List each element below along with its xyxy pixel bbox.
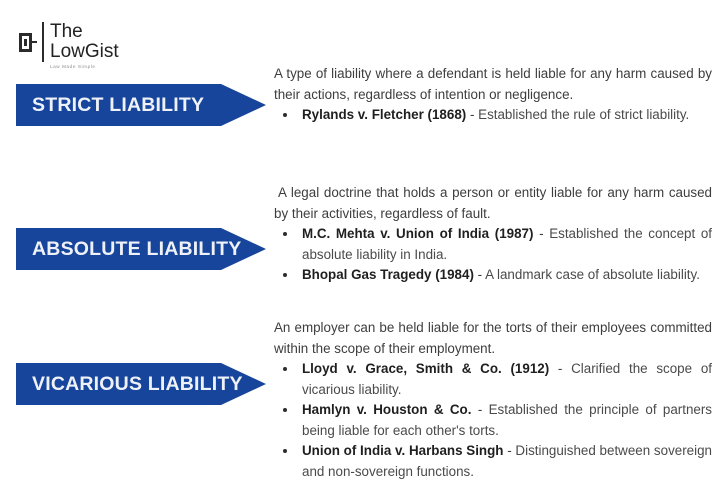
list-item: Hamlyn v. Houston & Co. - Established th…: [274, 400, 712, 441]
list-item: Lloyd v. Grace, Smith & Co. (1912) - Cla…: [274, 359, 712, 400]
banner-strict-liability: STRICT LIABILITY: [16, 84, 266, 126]
case-name: M.C. Mehta v. Union of India (1987): [302, 226, 533, 241]
banner-vicarious-liability: VICARIOUS LIABILITY: [16, 363, 266, 405]
case-name: Lloyd v. Grace, Smith & Co. (1912): [302, 361, 549, 376]
case-description: A landmark case of absolute liability.: [485, 267, 700, 282]
case-list: Rylands v. Fletcher (1868) - Established…: [274, 105, 712, 126]
list-item: M.C. Mehta v. Union of India (1987) - Es…: [274, 224, 712, 265]
case-description: Established the rule of strict liability…: [478, 107, 689, 122]
case-list: Lloyd v. Grace, Smith & Co. (1912) - Cla…: [274, 359, 712, 482]
section-vicarious-liability: An employer can be held liable for the t…: [274, 318, 712, 482]
bullet-icon: [283, 113, 287, 117]
book-gavel-icon: [18, 30, 38, 56]
bullet-icon: [283, 232, 287, 236]
logo-line-the: The: [50, 22, 119, 41]
logo-divider: [42, 22, 44, 62]
banner-absolute-liability: ABSOLUTE LIABILITY: [16, 228, 266, 270]
case-separator: -: [533, 226, 549, 241]
case-separator: -: [474, 267, 485, 282]
banner-label: VICARIOUS LIABILITY: [16, 373, 243, 396]
case-separator: -: [466, 107, 478, 122]
section-absolute-liability: A legal doctrine that holds a person or …: [274, 183, 712, 286]
case-separator: -: [549, 361, 571, 376]
brand-logo: The LowGist Law Made Simple: [18, 22, 119, 68]
case-separator: -: [503, 443, 515, 458]
section-intro: A type of liability where a defendant is…: [274, 64, 712, 105]
bullet-icon: [283, 449, 287, 453]
bullet-icon: [283, 273, 287, 277]
list-item: Rylands v. Fletcher (1868) - Established…: [274, 105, 712, 126]
banner-label: STRICT LIABILITY: [16, 94, 204, 117]
banner-label: ABSOLUTE LIABILITY: [16, 238, 241, 261]
logo-line-lowgist: LowGist: [50, 42, 119, 61]
section-intro: A legal doctrine that holds a person or …: [274, 183, 712, 224]
case-name: Rylands v. Fletcher (1868): [302, 107, 466, 122]
section-intro: An employer can be held liable for the t…: [274, 318, 712, 359]
case-name: Hamlyn v. Houston & Co.: [302, 402, 471, 417]
bullet-icon: [283, 408, 287, 412]
case-list: M.C. Mehta v. Union of India (1987) - Es…: [274, 224, 712, 286]
list-item: Union of India v. Harbans Singh - Distin…: [274, 441, 712, 482]
list-item: Bhopal Gas Tragedy (1984) - A landmark c…: [274, 265, 712, 286]
case-name: Union of India v. Harbans Singh: [302, 443, 503, 458]
bullet-icon: [283, 367, 287, 371]
case-name: Bhopal Gas Tragedy (1984): [302, 267, 474, 282]
case-separator: -: [471, 402, 488, 417]
logo-text: The LowGist Law Made Simple: [50, 22, 119, 70]
section-strict-liability: A type of liability where a defendant is…: [274, 64, 712, 126]
logo-tagline: Law Made Simple: [50, 64, 119, 70]
